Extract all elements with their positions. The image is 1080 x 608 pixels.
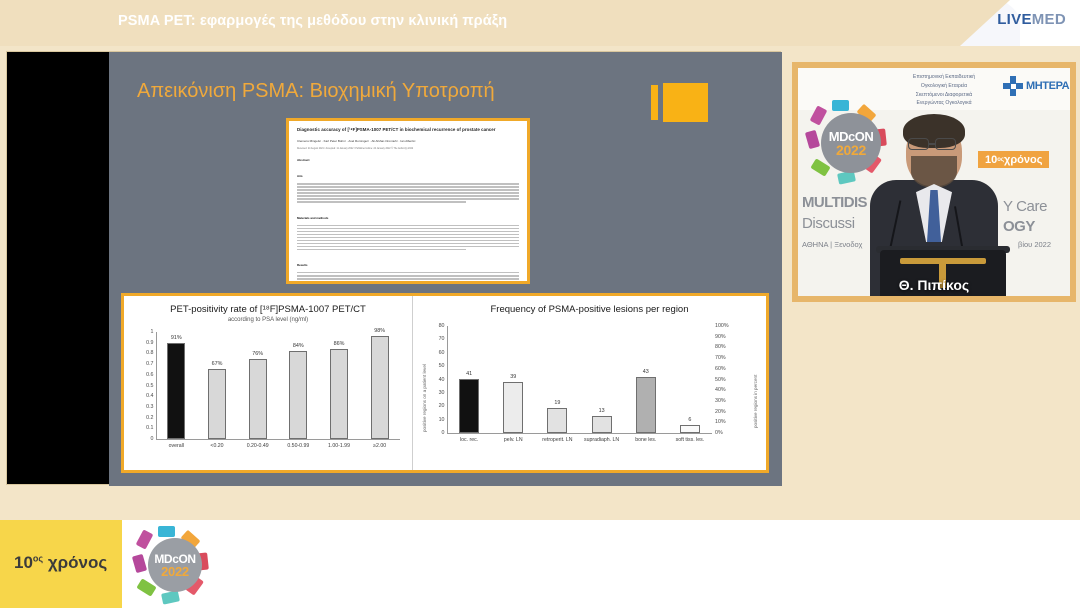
chart-bar-value: 43: [624, 369, 668, 375]
chart1-plot-area: 10.90.80.70.60.50.40.30.20.1091%overall6…: [156, 332, 400, 440]
abstract-section-text: [297, 183, 519, 203]
chart-category-label: soft tiss. les.: [662, 437, 718, 444]
mdcon-badge-year: 2022: [836, 142, 866, 158]
y-axis-tick-right: 0%: [715, 430, 723, 436]
chart-bar-value: 91%: [154, 335, 198, 341]
paper-dates: Received: 24 August 2021 / Accepted: 11 …: [297, 148, 519, 151]
backdrop-title-right1: Y Care: [1003, 198, 1047, 215]
slide-title: Απεικόνιση PSMA: Βιοχημική Υποτροπή: [137, 80, 495, 103]
chart-lesion-frequency: Frequency of PSMA-positive lesions per r…: [413, 296, 766, 470]
chart-bar: [459, 379, 479, 433]
backdrop-mitera-logo: ΜΗΤΕΡΑ: [1003, 76, 1069, 96]
y-axis-tick: 0.2: [146, 415, 153, 421]
chart-bar-value: 84%: [276, 343, 320, 349]
mitera-cross-icon: [1003, 76, 1023, 96]
chart-bar: [547, 408, 567, 433]
y-axis-tick-right: 70%: [715, 355, 726, 361]
abstract-section: Aim: [297, 164, 519, 203]
charts-card: PET-positivity rate of [¹⁸F]PSMA-1007 PE…: [121, 293, 769, 473]
chart1-subtitle: according to PSA level (ng/ml): [124, 317, 412, 323]
y-axis-tick: 50: [439, 363, 445, 369]
y-axis-tick-right: 30%: [715, 398, 726, 404]
backdrop-society-line: Ογκολογική Εταιρεία: [890, 82, 998, 91]
slide-accent-bar-thin: [651, 85, 658, 120]
chart1-x-axis: [156, 439, 400, 440]
chart-bar-value: 19: [535, 400, 579, 406]
backdrop-title-line1: MULTIDIS: [802, 194, 867, 211]
backdrop-society-line: Σκεπτόμενοι Διαφορετικά: [890, 91, 998, 100]
slide-content: Απεικόνιση PSMA: Βιοχημική Υποτροπή Diag…: [109, 52, 782, 486]
backdrop-date: βίου 2022: [1018, 240, 1051, 249]
chart-bar-value: 6: [668, 417, 712, 423]
y-axis-tick: 0.3: [146, 404, 153, 410]
y-axis-tick: 0.5: [146, 383, 153, 389]
abstract-section-lead: Aim: [297, 174, 302, 178]
footer-mdcon-circle: MDcON 2022: [148, 538, 202, 592]
y-axis-tick: 0.6: [146, 372, 153, 378]
chart-bar: [503, 382, 523, 433]
y-axis-tick-right: 10%: [715, 419, 726, 425]
backdrop-society-text: Επιστημονική ΕκπαιδευτικήΟγκολογική Εται…: [890, 73, 998, 108]
backdrop-mdcon-badge: MDcON 2022: [808, 100, 894, 186]
y-axis-tick: 40: [439, 377, 445, 383]
y-axis-tick-right: 60%: [715, 366, 726, 372]
chart-pet-positivity-rate: PET-positivity rate of [¹⁸F]PSMA-1007 PE…: [124, 296, 413, 470]
chart-bar: [208, 369, 226, 439]
speaker-glasses-right: [935, 138, 956, 150]
livemed-logo-med: MED: [1032, 11, 1066, 28]
backdrop-anniversary-badge: 10ος χρόνος: [978, 151, 1049, 168]
backdrop-anniversary-suffix: ος: [997, 157, 1004, 163]
chart2-plot-area: 80706050403020100100%90%80%70%60%50%40%3…: [447, 326, 712, 434]
livemed-logo-live: LIVE: [997, 11, 1032, 28]
abstract-section-lead: Results: [297, 263, 307, 267]
abstract-section: Materials and methods: [297, 206, 519, 251]
footer-anniversary-number: 10: [14, 553, 33, 572]
chart-bar-value: 98%: [358, 328, 402, 334]
y-axis-tick: 60: [439, 350, 445, 356]
backdrop-title-right2: OGY: [1003, 218, 1035, 235]
paper-authors: Clemens Mingels¹ · Karl Peter Bohn¹ · Ax…: [297, 139, 519, 144]
backdrop-venue: ΑΘΗΝΑ | Ξενοδοχ: [802, 240, 862, 249]
footer-anniversary-suffix: ος: [33, 553, 43, 563]
y-axis-tick: 0.7: [146, 361, 153, 367]
chart-bar-value: 41: [447, 371, 491, 377]
abstract-section: Results: [297, 253, 519, 284]
chart-bar-value: 67%: [195, 361, 239, 367]
abstract-section-text: [297, 272, 519, 284]
chart-bar-value: 76%: [236, 351, 280, 357]
y-axis-tick: 0.1: [146, 425, 153, 431]
abstract-section-text: [297, 225, 519, 251]
y-axis-tick: 20: [439, 403, 445, 409]
y-axis-tick: 10: [439, 417, 445, 423]
chart-bar: [167, 343, 185, 439]
mitera-wordmark: ΜΗΤΕΡΑ: [1026, 80, 1069, 92]
speaker-glasses-left: [908, 138, 929, 150]
chart2-y-axis-right-label: positive regions in percent: [753, 375, 758, 428]
footer-mdcon-badge: MDcON 2022: [136, 526, 214, 604]
paper-abstract-card: Diagnostic accuracy of [¹⁸F]PSMA-1007 PE…: [286, 118, 530, 284]
paper-title: Diagnostic accuracy of [¹⁸F]PSMA-1007 PE…: [297, 127, 519, 134]
chart-bar-value: 86%: [317, 341, 361, 347]
paper-abstract-body: Aim Materials and methods Results Conclu…: [297, 164, 519, 284]
footer-anniversary: 10ος χρόνος: [14, 553, 107, 573]
speaker-video-panel[interactable]: Επιστημονική ΕκπαιδευτικήΟγκολογική Εται…: [792, 62, 1076, 302]
chart-category-label: ≥2.00: [352, 443, 408, 450]
speaker-beard: [911, 156, 957, 188]
y-axis-tick: 0: [151, 436, 154, 442]
footer-anniversary-rest: χρόνος: [43, 553, 107, 572]
top-header-bar: PSMA PET: εφαρμογές της μεθόδου στην κλι…: [0, 0, 1080, 46]
y-axis-tick: 70: [439, 336, 445, 342]
y-axis-tick-right: 100%: [715, 323, 729, 329]
backdrop-society-line: Ενεργώντας Ογκολογικά: [890, 99, 998, 108]
chart-bar-value: 13: [580, 408, 624, 414]
slide-viewer[interactable]: Απεικόνιση PSMA: Βιοχημική Υποτροπή Diag…: [6, 51, 781, 485]
backdrop-title-line2: Discussi: [802, 215, 855, 232]
footer-badge-year: 2022: [161, 564, 189, 579]
footer-banner: 10ος χρόνος MDcON 2022 MULTIDISCIPLINARY…: [0, 520, 1080, 608]
y-axis-tick-right: 80%: [715, 344, 726, 350]
mdcon-badge-circle: MDcON 2022: [821, 113, 881, 173]
chart2-y-axis: [447, 326, 448, 434]
chart-bar: [249, 359, 267, 439]
chart2-x-axis: [447, 433, 712, 434]
speaker-name-label: Θ. Πιπίκος: [798, 277, 1070, 293]
y-axis-tick: 1: [151, 329, 154, 335]
backdrop-anniversary-number: 10: [985, 154, 997, 166]
backdrop-society-line: Επιστημονική Εκπαιδευτική: [890, 73, 998, 82]
y-axis-tick-right: 20%: [715, 409, 726, 415]
y-axis-tick: 0.4: [146, 393, 153, 399]
backdrop-anniversary-rest: χρόνος: [1004, 154, 1042, 166]
y-axis-tick-right: 50%: [715, 377, 726, 383]
chart1-y-axis: [156, 332, 157, 440]
paper-abstract-heading: Abstract: [297, 158, 519, 162]
chart-bar-value: 39: [491, 374, 535, 380]
y-axis-tick: 0.8: [146, 350, 153, 356]
y-axis-tick: 80: [439, 323, 445, 329]
y-axis-tick-right: 40%: [715, 387, 726, 393]
chart2-title: Frequency of PSMA-positive lesions per r…: [413, 304, 766, 315]
session-title: PSMA PET: εφαρμογές της μεθόδου στην κλι…: [118, 13, 507, 29]
chart1-title: PET-positivity rate of [¹⁸F]PSMA-1007 PE…: [124, 304, 412, 315]
y-axis-tick: 0: [442, 430, 445, 436]
slide-accent-bar-large: [663, 83, 708, 122]
chart-bar: [289, 351, 307, 439]
y-axis-tick-right: 90%: [715, 334, 726, 340]
livemed-logo: LIVEMED: [997, 11, 1066, 28]
chart-bar: [636, 377, 656, 433]
abstract-section-lead: Materials and methods: [297, 216, 328, 220]
y-axis-tick: 0.9: [146, 340, 153, 346]
chart2-y-axis-label: positive regions on a patient level: [422, 364, 427, 432]
chart-bar: [592, 416, 612, 433]
y-axis-tick: 30: [439, 390, 445, 396]
chart-bar: [330, 349, 348, 439]
chart-bar: [371, 336, 389, 439]
chart-bar: [680, 425, 700, 433]
speaker-glasses-bridge: [929, 143, 935, 145]
speaker-video-frame[interactable]: Επιστημονική ΕκπαιδευτικήΟγκολογική Εται…: [798, 68, 1070, 296]
